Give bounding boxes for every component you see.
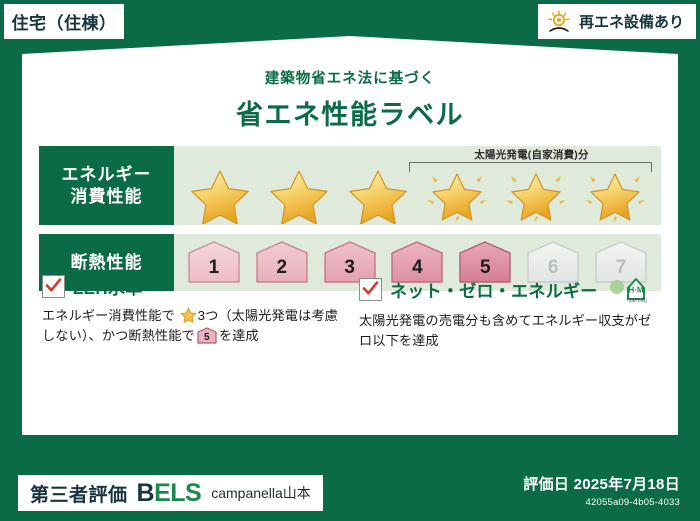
bels-logo-els: ELS [154,479,201,507]
inline-house-badge-icon: 5 [197,327,217,344]
criterion-nze-title: ネット・ゼロ・エネルギー [390,277,598,302]
third-party-evaluation-label: 第三者評価 [30,480,128,507]
star-icon-3 [346,166,410,224]
star-icon-1 [188,166,252,224]
property-name: campanella山本 [211,483,311,503]
criterion-zeh-standard: ZEH水準 エネルギー消費性能で 3つ（太陽光発電は考慮しない）、かつ断熱性能で… [42,274,343,352]
sun-solar-icon [546,10,572,34]
energy-performance-label-cell: エネルギー 消費性能 [39,146,174,225]
criterion-zeh-body-pre: エネルギー消費性能で [42,308,175,323]
evaluation-date-label: 評価日 [523,476,569,493]
energy-performance-row: エネルギー 消費性能 太陽光発電(自家消費)分 [39,146,661,225]
criterion-zeh-title: ZEH水準 [73,274,143,299]
star-icon-2 [267,166,331,224]
label-body-panel: 建築物省エネ法に基づく 省エネ性能ラベル エネルギー 消費性能 太陽光発電(自家… [22,36,678,435]
star-icon-5-solar [504,166,568,224]
bels-evaluation-bar: 第三者評価 BELS campanella山本 [18,475,323,511]
star-icon-4-solar [425,166,489,224]
inline-star-icon [180,307,197,323]
evaluation-meta: 評価日 2025年7月18日 42055a09-4b05-4033 [523,473,680,508]
bels-logo: BELS [137,479,202,508]
label-subtitle: 建築物省エネ法に基づく [22,67,678,88]
solar-contribution-note: 太陽光発電(自家消費)分 [410,147,653,162]
checkbox-zeh-standard [42,275,65,298]
inline-house-badge-number: 5 [197,330,217,346]
insulation-label: 断熱性能 [71,252,143,274]
energy-label-line1: エネルギー [62,164,152,186]
zeh-m-logo-caption: 「ZEH-M」 [624,298,650,304]
evaluation-id: 42055a09-4b05-4033 [523,497,680,508]
renewable-badge-label: 再エネ設備あり [579,11,684,32]
zeh-m-logo-icon: H·M 「ZEH-M」 [608,274,654,304]
star-icon-6-solar [583,166,647,224]
checkbox-net-zero-energy [359,278,382,301]
star-rating [180,166,655,223]
solar-contribution-bracket [409,162,652,172]
criterion-nze-body: 太陽光発電の売電分も含めてエネルギー収支がゼロ以下を達成 [359,311,660,352]
house-type-tag: 住宅（住棟） [4,4,124,39]
criterion-net-zero-energy: ネット・ゼロ・エネルギー H·M 「ZEH-M」 太陽光発電の売電分も含めてエネ… [359,274,660,352]
zeh-m-logo-text: H·M [628,286,643,295]
criterion-zeh-header: ZEH水準 [42,274,343,299]
page-title: 省エネ性能ラベル [22,93,678,132]
energy-stars-area: 太陽光発電(自家消費)分 [174,146,661,225]
label-title-block: 建築物省エネ法に基づく 省エネ性能ラベル [22,67,678,132]
criterion-zeh-body: エネルギー消費性能で 3つ（太陽光発電は考慮しない）、かつ断熱性能で 5 を達成 [42,306,343,347]
bels-logo-b: B [137,479,155,507]
criterion-zeh-body-post: を達成 [219,328,259,343]
evaluation-date-value: 2025年7月18日 [574,476,680,493]
renewable-equipment-badge: 再エネ設備あり [538,4,696,39]
evaluation-date: 評価日 2025年7月18日 [523,473,680,494]
criteria-section: ZEH水準 エネルギー消費性能で 3つ（太陽光発電は考慮しない）、かつ断熱性能で… [42,274,660,352]
energy-label-line2: 消費性能 [71,186,143,208]
energy-performance-label: 住宅（住棟） 再エネ設備あり 建築物省エネ法に基づく 省エネ性能ラベル [0,0,700,521]
criterion-nze-header: ネット・ゼロ・エネルギー H·M 「ZEH-M」 [359,274,660,304]
